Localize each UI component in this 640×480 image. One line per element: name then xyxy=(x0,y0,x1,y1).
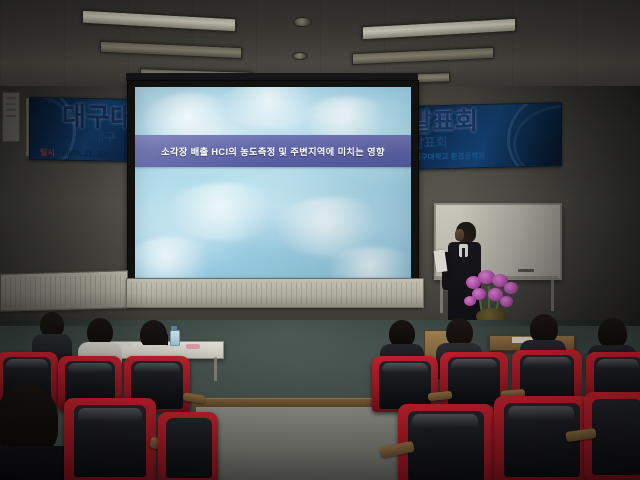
wall-radiator xyxy=(126,278,424,308)
seat-highlight xyxy=(134,363,180,377)
wall-shadow-left xyxy=(0,86,150,326)
seat-highlight xyxy=(382,363,428,377)
seat-highlight xyxy=(597,359,639,373)
audience-member-foreground xyxy=(0,384,74,480)
radiator-grill xyxy=(131,282,419,304)
seat-highlight xyxy=(451,359,497,373)
aisle-floor xyxy=(196,404,410,480)
projected-slide: 소각장 배출 HCl의 농도측정 및 주변지역에 미치는 영향 xyxy=(135,87,411,283)
seat-highlight xyxy=(78,408,142,428)
seat-cushion xyxy=(592,399,640,475)
table-leg xyxy=(214,357,217,381)
seat-cushion xyxy=(166,418,212,478)
auditorium-seat[interactable] xyxy=(158,412,218,480)
auditorium-seat[interactable] xyxy=(64,398,156,480)
ceiling-speaker-icon xyxy=(293,17,312,27)
seat-highlight xyxy=(523,357,571,371)
projection-screen-frame: 소각장 배출 HCl의 농도측정 및 주변지역에 미치는 영향 xyxy=(127,80,419,298)
wall-shadow-right xyxy=(460,86,640,326)
seat-highlight xyxy=(68,363,112,377)
slide-cloud xyxy=(165,183,285,241)
seat-highlight xyxy=(508,406,574,426)
seat-highlight xyxy=(6,359,48,373)
ceiling-speaker-icon xyxy=(292,52,308,60)
audience-shoulders xyxy=(0,446,74,480)
slide-title-band: 소각장 배출 HCl의 농도측정 및 주변지역에 미치는 영향 xyxy=(135,135,411,167)
photo-scene: 대구대 대구 일시 : 2009. 11. 20(금) 발표회 발표회 대구대학… xyxy=(0,0,640,480)
seat-highlight xyxy=(412,414,478,434)
slide-title-text: 소각장 배출 HCl의 농도측정 및 주변지역에 미치는 영향 xyxy=(161,144,385,158)
table-pink-item xyxy=(186,344,200,349)
